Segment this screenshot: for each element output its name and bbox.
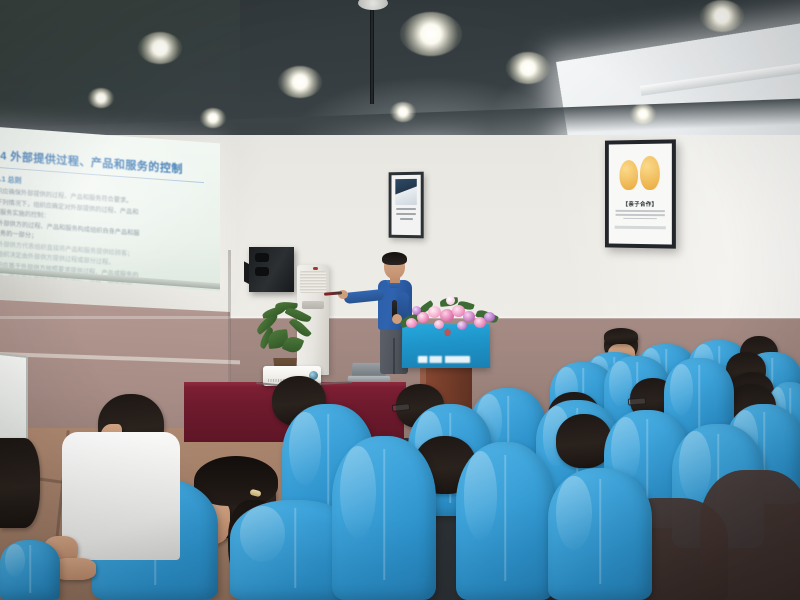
flower-arrangement — [400, 296, 500, 336]
seat — [332, 436, 436, 600]
poster-right-mat: 【亲子合作】 — [609, 143, 672, 244]
poster-left-image — [395, 179, 416, 205]
seat-highlight — [240, 506, 284, 562]
seat — [548, 468, 652, 600]
projection-screen: 8.4 外部提供过程、产品和服务的控制 8.4.1 总则 组织应确保外部提供的过… — [0, 126, 220, 291]
poster-right-text-line — [616, 214, 665, 216]
slide-content: 8.4 外部提供过程、产品和服务的控制 8.4.1 总则 组织应确保外部提供的过… — [0, 126, 220, 291]
ceiling-light-5 — [390, 102, 416, 122]
poster-right-footer — [615, 226, 666, 230]
seat-highlight — [556, 476, 591, 550]
flower-bloom — [434, 320, 444, 329]
figure-head-right — [643, 150, 657, 164]
figure-head-left — [621, 152, 634, 165]
flower-bloom — [457, 321, 467, 330]
framed-poster-right: 【亲子合作】 — [605, 139, 676, 248]
speaker-driver-top — [255, 253, 269, 262]
ceiling-light-7 — [506, 52, 550, 84]
ceiling-light-8 — [700, 0, 744, 32]
ceiling-light-2 — [138, 32, 182, 64]
poster-right-illustration — [618, 152, 663, 196]
flower-bloom — [484, 312, 495, 322]
flower-bloom — [412, 306, 421, 315]
presenter-hair — [382, 252, 407, 265]
flower-bloom — [446, 296, 455, 305]
laptop-keyboard — [348, 376, 391, 382]
attendee-hair — [604, 328, 638, 344]
seat-highlight — [5, 544, 25, 578]
seat-highlight — [670, 364, 694, 416]
ceiling-light-9 — [630, 104, 656, 124]
lectern-logo-text — [418, 356, 470, 363]
attendee-head — [0, 438, 40, 528]
ac-grille — [300, 271, 326, 293]
seat-highlight — [679, 431, 710, 500]
poster-right-title: 【亲子合作】 — [623, 200, 658, 208]
slide-title: 8.4 外部提供过程、产品和服务的控制 — [0, 146, 212, 178]
poster-left-text-line — [400, 218, 413, 220]
seat-highlight — [340, 446, 375, 538]
seat-highlight — [289, 412, 320, 485]
ceiling-hanging-rod — [370, 0, 374, 104]
ceiling-light-6 — [400, 12, 462, 56]
wall-speaker — [249, 247, 294, 292]
framed-poster-left — [389, 172, 424, 239]
flower-bloom — [406, 318, 417, 328]
ceiling-light-1 — [88, 88, 114, 108]
poster-left-mat — [392, 175, 421, 235]
seat — [456, 442, 554, 600]
poster-left-text-line — [396, 208, 415, 210]
poster-right-text-line — [623, 218, 656, 220]
whiteboard — [0, 352, 28, 446]
conference-room-photo: 8.4 外部提供过程、产品和服务的控制 8.4.1 总则 组织应确保外部提供的过… — [0, 0, 800, 600]
speaker-driver-bottom — [255, 267, 269, 276]
ceiling-light-3 — [200, 108, 226, 128]
ceiling-light-4 — [278, 66, 322, 98]
seat-highlight — [464, 451, 497, 539]
attendee-shirt — [62, 432, 180, 560]
seat — [0, 540, 60, 600]
poster-left-text-line — [396, 213, 415, 215]
ac-brand-mark — [313, 267, 318, 270]
ceiling-tint — [0, 0, 240, 120]
attendee-glasses — [628, 397, 646, 405]
poster-right-text-line — [616, 210, 665, 212]
